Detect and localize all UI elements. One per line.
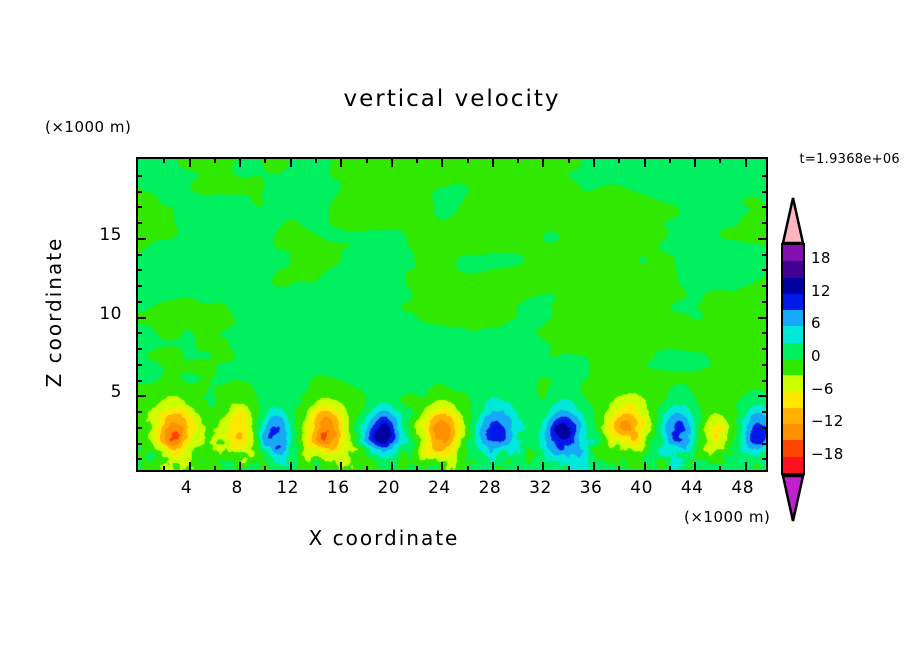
x-axis-tick-top xyxy=(542,158,544,167)
x-axis-tick-top xyxy=(568,158,570,163)
x-axis-tick xyxy=(264,466,266,471)
colorbar-band xyxy=(783,457,803,473)
z-axis-tick-right xyxy=(762,222,767,224)
colorbar-band xyxy=(783,375,803,391)
x-axis-tick-top xyxy=(163,158,165,163)
x-axis-tick xyxy=(492,462,494,471)
x-axis-tick xyxy=(593,462,595,471)
x-axis-tick-top xyxy=(719,158,721,163)
x-axis-label: X coordinate xyxy=(0,526,768,550)
x-axis-tick-top xyxy=(366,158,368,163)
x-axis-tick-top xyxy=(669,158,671,163)
colorbar-tick-label: 0 xyxy=(811,347,821,365)
z-axis-tick xyxy=(137,458,142,460)
x-axis-tick xyxy=(719,466,721,471)
z-axis-unit-label: (×1000 m) xyxy=(45,118,131,136)
x-axis-tick-top xyxy=(416,158,418,163)
colorbar-tick-label: 12 xyxy=(811,282,831,300)
x-axis-tick xyxy=(618,466,620,471)
vertical-velocity-field xyxy=(138,159,766,470)
colorbar-band xyxy=(783,440,803,456)
colorbar-bands xyxy=(781,243,805,475)
x-axis-tick xyxy=(391,462,393,471)
colorbar-band xyxy=(783,392,803,408)
x-axis-tick xyxy=(441,462,443,471)
x-axis-tick-top xyxy=(517,158,519,163)
x-axis-tick xyxy=(745,462,747,471)
z-axis-tick xyxy=(137,301,142,303)
contour-plot-area xyxy=(136,157,768,472)
x-axis-tick xyxy=(568,466,570,471)
z-axis-tick-right xyxy=(762,175,767,177)
x-axis-tick xyxy=(517,466,519,471)
colorbar-tick-label: −12 xyxy=(811,412,844,430)
colorbar-band xyxy=(783,343,803,359)
x-axis-tick xyxy=(290,462,292,471)
z-axis-tick-right xyxy=(762,191,767,193)
x-axis-tick-top xyxy=(593,158,595,167)
z-axis-tick xyxy=(137,332,142,334)
x-axis-tick xyxy=(669,466,671,471)
z-axis-tick-right xyxy=(762,254,767,256)
z-axis-tick-right xyxy=(762,301,767,303)
z-axis-tick xyxy=(137,222,142,224)
colorbar-under-arrow xyxy=(781,475,805,523)
x-axis-tick xyxy=(163,466,165,471)
x-axis-tick-top xyxy=(315,158,317,163)
z-axis-tick-right xyxy=(762,285,767,287)
z-axis-tick-right xyxy=(762,348,767,350)
x-axis-tick xyxy=(340,462,342,471)
z-axis-tick-right xyxy=(758,238,767,240)
x-axis-unit-label: (×1000 m) xyxy=(684,508,770,526)
x-axis-tick-top xyxy=(214,158,216,163)
z-axis-tick xyxy=(137,238,146,240)
x-axis-tick xyxy=(239,462,241,471)
timestamp-annotation: t=1.9368e+06 xyxy=(799,152,900,167)
z-axis-tick xyxy=(137,427,142,429)
colorbar-tick-label: −18 xyxy=(811,445,844,463)
colorbar-band xyxy=(783,245,803,261)
z-axis-tick-right xyxy=(762,269,767,271)
x-axis-tick xyxy=(467,466,469,471)
x-axis-tick-top xyxy=(644,158,646,167)
z-axis-tick-right xyxy=(762,364,767,366)
x-axis-tick-top xyxy=(290,158,292,167)
x-axis-tick-top xyxy=(441,158,443,167)
x-axis-tick-top xyxy=(340,158,342,167)
colorbar-band xyxy=(783,261,803,277)
x-axis-tick xyxy=(644,462,646,471)
colorbar-band xyxy=(783,278,803,294)
z-axis-tick-right xyxy=(762,443,767,445)
z-axis-tick-label: 5 xyxy=(62,382,122,402)
z-axis-tick xyxy=(137,443,142,445)
x-axis-tick xyxy=(694,462,696,471)
x-axis-tick xyxy=(315,466,317,471)
x-axis-tick-top xyxy=(618,158,620,163)
colorbar-band xyxy=(783,359,803,375)
colorbar-over-arrow xyxy=(781,196,805,244)
z-axis-tick-right xyxy=(762,380,767,382)
x-axis-tick xyxy=(542,462,544,471)
colorbar-band xyxy=(783,310,803,326)
x-axis-tick xyxy=(416,466,418,471)
colorbar-tick-label: 18 xyxy=(811,249,831,267)
x-axis-tick-top xyxy=(745,158,747,167)
x-axis-tick xyxy=(214,466,216,471)
colorbar: 181260−6−12−18 xyxy=(781,196,805,522)
colorbar-tick-label: 6 xyxy=(811,314,821,332)
z-axis-tick xyxy=(137,317,146,319)
colorbar-band xyxy=(783,326,803,342)
z-axis-tick-right xyxy=(758,317,767,319)
x-axis-tick-top xyxy=(391,158,393,167)
z-axis-tick-right xyxy=(762,427,767,429)
z-axis-tick xyxy=(137,380,142,382)
x-axis-tick-label: 48 xyxy=(713,478,773,498)
x-axis-tick-top xyxy=(694,158,696,167)
x-axis-tick-top xyxy=(239,158,241,167)
z-axis-tick xyxy=(137,348,142,350)
z-axis-tick xyxy=(137,269,142,271)
x-axis-tick-top xyxy=(189,158,191,167)
x-axis-tick-top xyxy=(492,158,494,167)
z-axis-tick xyxy=(137,395,146,397)
z-axis-tick xyxy=(137,191,142,193)
colorbar-band xyxy=(783,424,803,440)
z-axis-tick xyxy=(137,285,142,287)
x-axis-tick xyxy=(189,462,191,471)
chart-title: vertical velocity xyxy=(0,86,904,112)
colorbar-band xyxy=(783,294,803,310)
z-axis-tick xyxy=(137,206,142,208)
x-axis-tick xyxy=(366,466,368,471)
z-axis-tick-label: 10 xyxy=(62,304,122,324)
z-axis-tick xyxy=(137,364,142,366)
colorbar-tick-label: −6 xyxy=(811,380,834,398)
z-axis-tick-right xyxy=(762,411,767,413)
z-axis-tick-right xyxy=(758,395,767,397)
x-axis-tick-top xyxy=(467,158,469,163)
z-axis-tick-right xyxy=(762,206,767,208)
z-axis-tick xyxy=(137,411,142,413)
z-axis-tick xyxy=(137,254,142,256)
z-axis-tick-label: 15 xyxy=(62,225,122,245)
z-axis-tick-right xyxy=(762,332,767,334)
x-axis-tick-top xyxy=(264,158,266,163)
z-axis-tick-right xyxy=(762,458,767,460)
colorbar-band xyxy=(783,408,803,424)
z-axis-tick xyxy=(137,175,142,177)
